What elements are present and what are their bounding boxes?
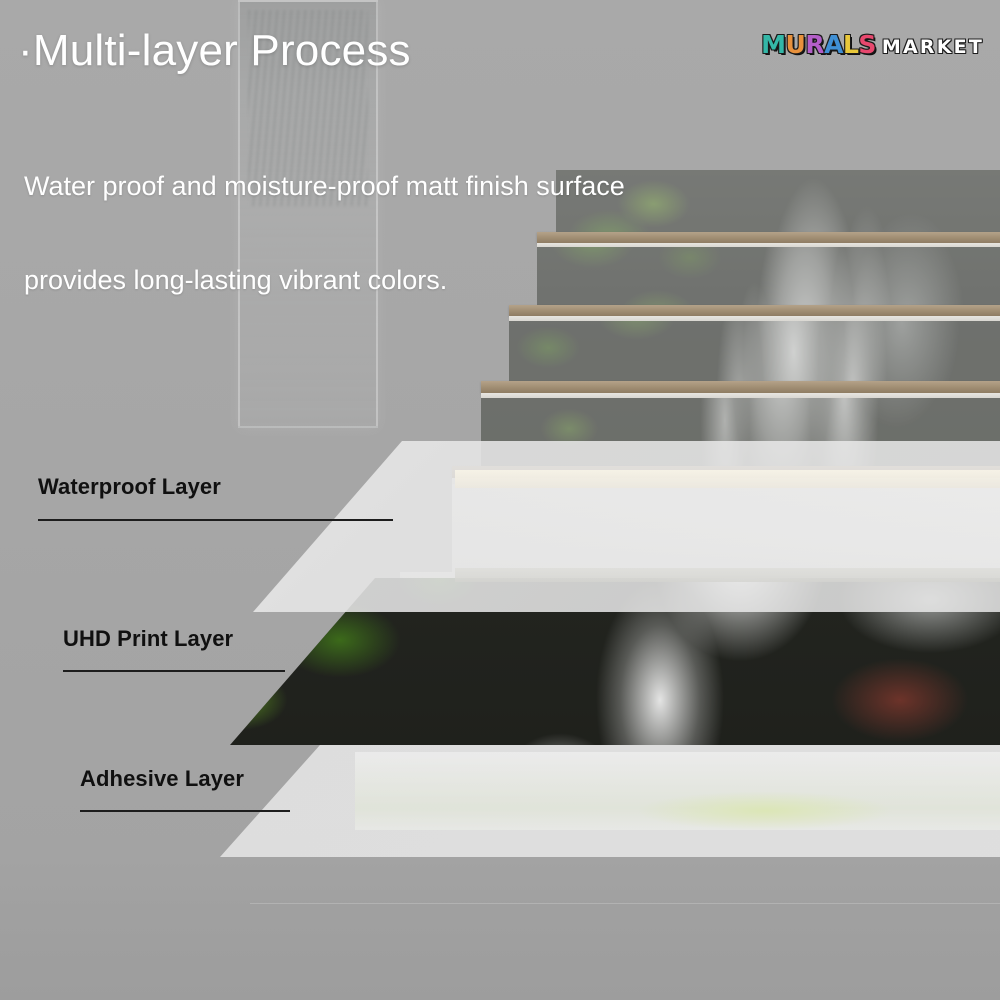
logo-letter-l-4: L — [843, 32, 858, 57]
layer-label-uhd-print: UHD Print Layer — [63, 626, 233, 652]
page-title: ·Multi-layer Process — [18, 26, 411, 76]
page-subtitle-line-2: provides long-lasting vibrant colors. — [24, 265, 625, 296]
logo-letter-u-1: U — [786, 32, 806, 57]
logo-letter-r-2: R — [805, 32, 824, 57]
logo-word-murals: MURALS — [761, 32, 876, 57]
brand-logo[interactable]: MURALS MARKET — [761, 32, 984, 57]
logo-word-market: MARKET — [882, 38, 984, 57]
page-subtitle-line-1: Water proof and moisture-proof matt fini… — [24, 171, 625, 202]
logo-letter-m-0: M — [761, 32, 785, 57]
adhesive-green-tint — [600, 782, 930, 830]
layer-rule-adhesive — [80, 810, 290, 812]
logo-letter-a-3: A — [824, 32, 843, 57]
layer-rule-uhd-print — [63, 670, 285, 672]
layer-label-waterproof: Waterproof Layer — [38, 474, 221, 500]
waterproof-step-highlight — [455, 470, 1000, 488]
poster-canvas: Waterproof Layer UHD Print Layer Adhesiv… — [0, 0, 1000, 1000]
layer-rule-waterproof — [38, 519, 393, 521]
logo-letter-s-5: S — [858, 32, 876, 57]
page-subtitle: Water proof and moisture-proof matt fini… — [24, 108, 625, 359]
waterproof-step-shadow — [455, 568, 1000, 582]
layer-label-adhesive: Adhesive Layer — [80, 766, 244, 792]
